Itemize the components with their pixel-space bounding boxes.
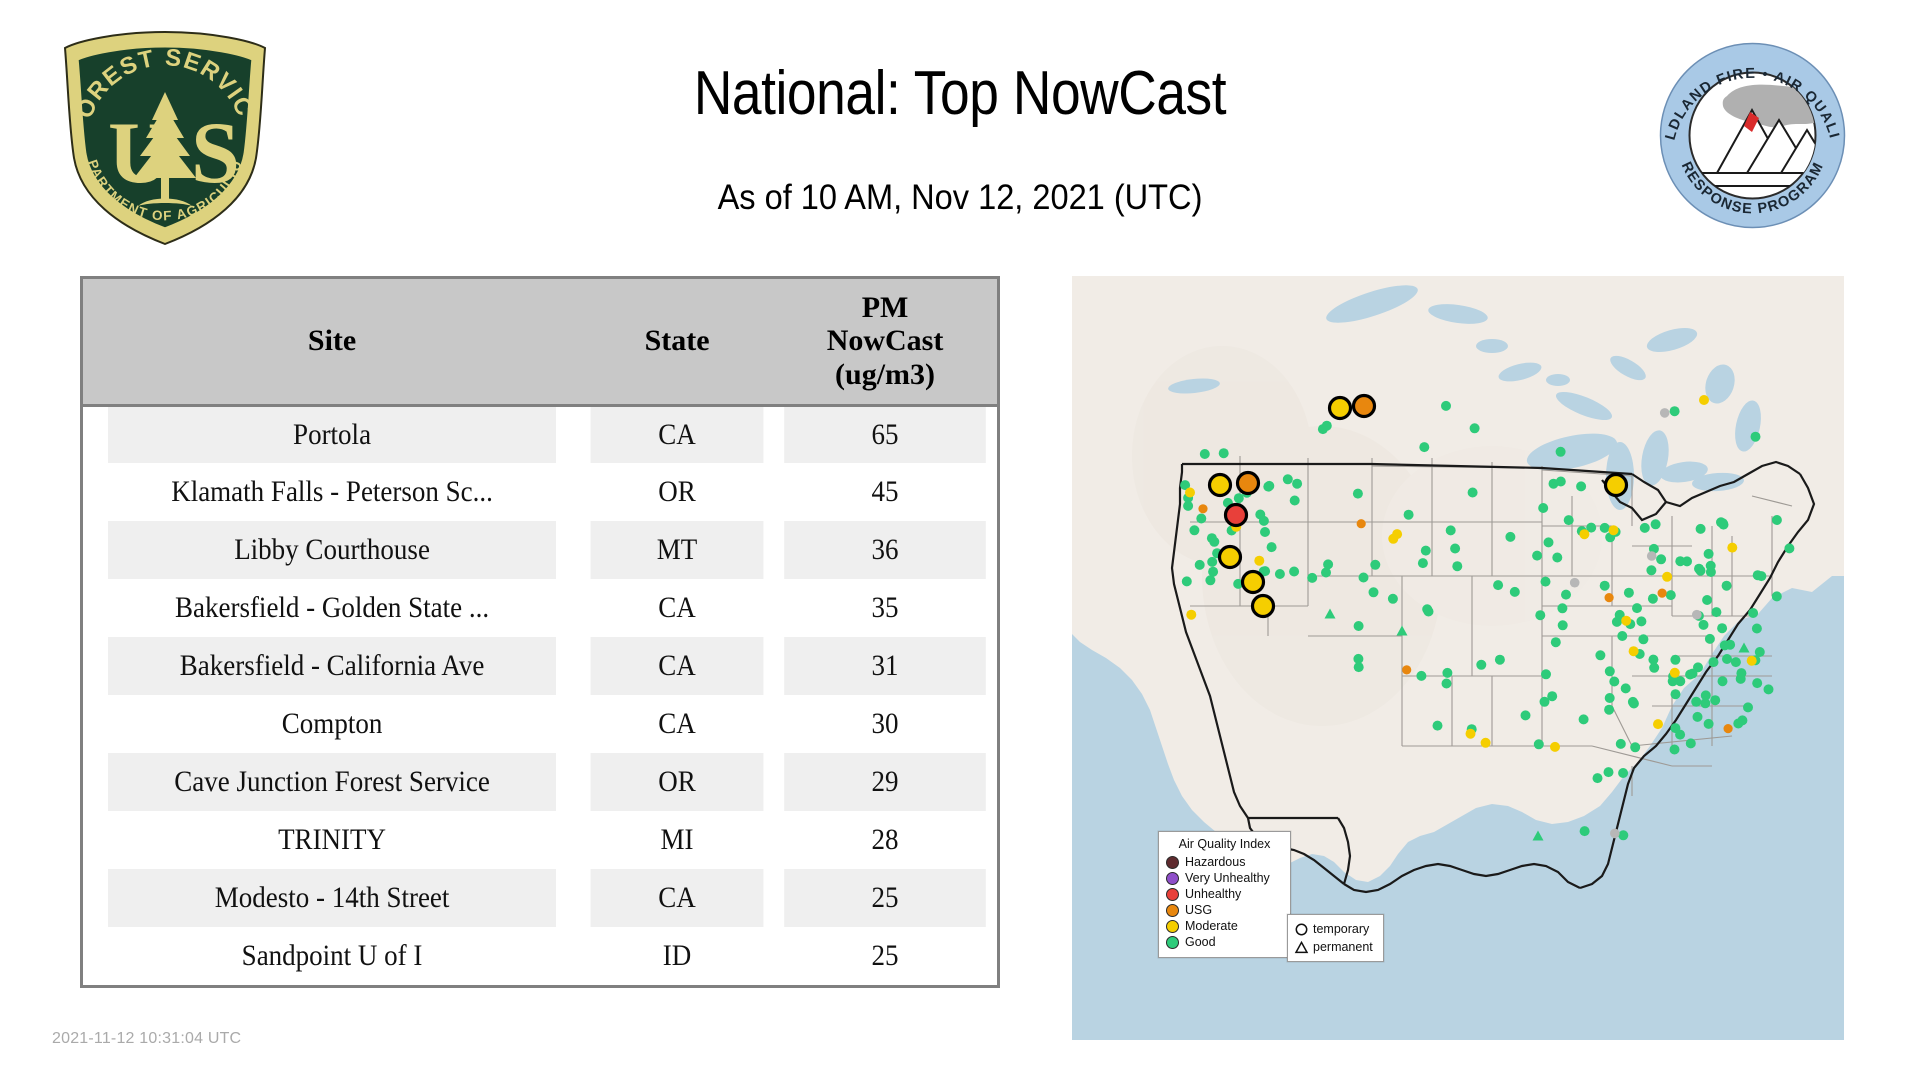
table-row: Libby CourthouseMT36 bbox=[83, 521, 997, 579]
table-row: TRINITYMI28 bbox=[83, 811, 997, 869]
monitor-dot[interactable] bbox=[1725, 640, 1735, 650]
legend-label: Unhealthy bbox=[1185, 888, 1241, 901]
circle-icon bbox=[1294, 922, 1309, 937]
monitor-dot[interactable] bbox=[1609, 677, 1619, 687]
monitor-dot[interactable] bbox=[1452, 561, 1462, 571]
monitor-dot[interactable] bbox=[1532, 551, 1542, 561]
monitor-dot[interactable] bbox=[1753, 570, 1763, 580]
monitor-dot[interactable] bbox=[1359, 573, 1369, 583]
legend-row-temporary: temporary bbox=[1294, 920, 1377, 938]
triangle-icon bbox=[1294, 940, 1309, 955]
monitor-dot[interactable] bbox=[1704, 549, 1714, 559]
table-row: Klamath Falls - Peterson Sc...OR45 bbox=[83, 463, 997, 521]
monitor-dot[interactable] bbox=[1736, 674, 1746, 684]
table-cell-pm: 45 bbox=[784, 463, 986, 521]
column-header-pm-line1: PM bbox=[777, 291, 993, 325]
monitor-dot[interactable] bbox=[1234, 493, 1244, 503]
monitor-dot[interactable] bbox=[1388, 534, 1398, 544]
monitor-dot[interactable] bbox=[1195, 560, 1205, 570]
highlighted-monitor-sandpoint-u-of-i[interactable] bbox=[1330, 398, 1351, 419]
table-cell-site: Klamath Falls - Peterson Sc... bbox=[108, 463, 556, 521]
monitor-dot[interactable] bbox=[1196, 514, 1206, 524]
monitor-dot[interactable] bbox=[1505, 532, 1515, 542]
legend-row-hazardous: Hazardous bbox=[1166, 854, 1283, 870]
monitor-dot[interactable] bbox=[1189, 525, 1199, 535]
highlighted-monitor-libby-courthouse[interactable] bbox=[1354, 396, 1375, 417]
legend-row-good: Good bbox=[1166, 934, 1283, 950]
table-cell-pm: 25 bbox=[784, 869, 986, 927]
monitor-dot[interactable] bbox=[1616, 739, 1626, 749]
table-cell-pm: 30 bbox=[784, 695, 986, 753]
monitor-dot[interactable] bbox=[1595, 650, 1605, 660]
monitor-dot[interactable] bbox=[1357, 519, 1366, 528]
monitor-dot[interactable] bbox=[1208, 567, 1218, 577]
monitor-dot[interactable] bbox=[1419, 442, 1429, 452]
column-header-state: State bbox=[581, 279, 773, 405]
table-row: ComptonCA30 bbox=[83, 695, 997, 753]
monitor-dot[interactable] bbox=[1207, 557, 1217, 567]
monitor-dot[interactable] bbox=[1748, 608, 1758, 618]
table-cell-site: Bakersfield - California Ave bbox=[108, 637, 556, 695]
monitor-dot[interactable] bbox=[1688, 669, 1698, 679]
table-cell-pm: 36 bbox=[784, 521, 986, 579]
table-row: Bakersfield - Golden State ...CA35 bbox=[83, 579, 997, 637]
monitor-dot[interactable] bbox=[1198, 504, 1207, 513]
monitor-dot[interactable] bbox=[1495, 655, 1505, 665]
monitor-dot[interactable] bbox=[1470, 423, 1480, 433]
monitor-type-legend: temporary permanent bbox=[1287, 914, 1384, 962]
aqi-legend-title: Air Quality Index bbox=[1166, 837, 1283, 851]
monitor-dot[interactable] bbox=[1538, 503, 1548, 513]
table-cell-pm: 25 bbox=[784, 927, 986, 985]
table-cell-state: CA bbox=[591, 695, 764, 753]
table-row: PortolaCA65 bbox=[83, 405, 997, 463]
legend-swatch-icon bbox=[1166, 920, 1179, 933]
monitor-dot[interactable] bbox=[1369, 587, 1379, 597]
monitor-dot[interactable] bbox=[1651, 519, 1661, 529]
monitor-dot[interactable] bbox=[1418, 558, 1428, 568]
monitor-dot[interactable] bbox=[1784, 543, 1794, 553]
highlighted-monitor-modesto-14th-street[interactable] bbox=[1220, 547, 1241, 568]
monitor-dot[interactable] bbox=[1564, 515, 1574, 525]
legend-row-unhealthy: Unhealthy bbox=[1166, 886, 1283, 902]
monitor-dot[interactable] bbox=[1534, 739, 1544, 749]
monitor-dot[interactable] bbox=[1544, 537, 1554, 547]
monitor-dot[interactable] bbox=[1653, 719, 1663, 729]
monitor-dot[interactable] bbox=[1254, 556, 1264, 566]
legend-swatch-icon bbox=[1166, 888, 1179, 901]
legend-label-permanent: permanent bbox=[1313, 941, 1373, 954]
column-header-pm-nowcast: PM NowCast (ug/m3) bbox=[773, 279, 997, 405]
monitor-dot[interactable] bbox=[1402, 665, 1411, 674]
monitor-dot[interactable] bbox=[1446, 525, 1456, 535]
table-cell-state: MT bbox=[591, 521, 764, 579]
monitor-dot[interactable] bbox=[1647, 551, 1657, 561]
table-row: Modesto - 14th StreetCA25 bbox=[83, 869, 997, 927]
top-nowcast-table: Site State PM NowCast (ug/m3) PortolaCA6… bbox=[83, 279, 997, 985]
monitor-dot[interactable] bbox=[1307, 573, 1317, 583]
monitor-dot[interactable] bbox=[1556, 447, 1566, 457]
monitor-dot[interactable] bbox=[1772, 591, 1782, 601]
column-header-pm-line3: (ug/m3) bbox=[777, 358, 993, 392]
table-cell-state: OR bbox=[591, 753, 764, 811]
monitor-dot[interactable] bbox=[1290, 496, 1300, 506]
monitor-dot[interactable] bbox=[1621, 683, 1631, 693]
monitor-dot[interactable] bbox=[1510, 587, 1520, 597]
monitor-dot[interactable] bbox=[1747, 656, 1757, 666]
monitor-dot[interactable] bbox=[1260, 527, 1270, 537]
monitor-dot[interactable] bbox=[1670, 668, 1680, 678]
table-cell-site: Libby Courthouse bbox=[108, 521, 556, 579]
monitor-dot[interactable] bbox=[1185, 488, 1195, 498]
monitor-dot[interactable] bbox=[1646, 565, 1656, 575]
monitor-dot[interactable] bbox=[1605, 693, 1615, 703]
monitor-dot[interactable] bbox=[1535, 610, 1545, 620]
us-forest-service-logo: FOREST SERVICE U S DEPARTMENT OF AGRICUL… bbox=[60, 30, 270, 245]
monitor-dot[interactable] bbox=[1289, 567, 1299, 577]
table-cell-site: Sandpoint U of I bbox=[108, 927, 556, 985]
monitor-dot[interactable] bbox=[1724, 724, 1733, 733]
monitor-dot[interactable] bbox=[1630, 742, 1640, 752]
monitor-dot[interactable] bbox=[1618, 768, 1628, 778]
monitor-dot[interactable] bbox=[1605, 666, 1615, 676]
table-cell-site: Compton bbox=[108, 695, 556, 753]
monitor-dot[interactable] bbox=[1699, 620, 1709, 630]
monitor-dot[interactable] bbox=[1593, 773, 1603, 783]
monitor-dot[interactable] bbox=[1662, 572, 1672, 582]
monitor-dot[interactable] bbox=[1660, 408, 1670, 418]
aqi-legend: Air Quality Index HazardousVery Unhealth… bbox=[1158, 831, 1291, 958]
monitor-dot[interactable] bbox=[1648, 655, 1658, 665]
monitor-dot[interactable] bbox=[1433, 721, 1443, 731]
monitor-dot[interactable] bbox=[1722, 581, 1732, 591]
monitor-dot[interactable] bbox=[1219, 448, 1229, 458]
legend-swatch-icon bbox=[1166, 856, 1179, 869]
table-cell-site: Modesto - 14th Street bbox=[108, 869, 556, 927]
table-cell-state: ID bbox=[591, 927, 764, 985]
monitor-dot[interactable] bbox=[1552, 553, 1562, 563]
monitor-dot[interactable] bbox=[1629, 646, 1639, 656]
monitor-dot[interactable] bbox=[1481, 738, 1491, 748]
legend-label-temporary: temporary bbox=[1313, 923, 1369, 936]
monitor-dot[interactable] bbox=[1600, 581, 1610, 591]
monitor-dot[interactable] bbox=[1704, 719, 1714, 729]
monitor-dot[interactable] bbox=[1186, 610, 1196, 620]
generated-timestamp: 2021-11-12 10:31:04 UTC bbox=[52, 1030, 241, 1048]
highlighted-monitor-trinity[interactable] bbox=[1606, 475, 1627, 496]
column-header-state-line1: State bbox=[585, 324, 769, 358]
legend-swatch-icon bbox=[1166, 936, 1179, 949]
monitor-dot[interactable] bbox=[1670, 723, 1680, 733]
monitor-dot[interactable] bbox=[1468, 488, 1478, 498]
monitor-dot[interactable] bbox=[1541, 577, 1551, 587]
monitor-dot[interactable] bbox=[1493, 580, 1503, 590]
table-cell-state: MI bbox=[591, 811, 764, 869]
monitor-dot[interactable] bbox=[1200, 449, 1210, 459]
monitor-dot[interactable] bbox=[1675, 556, 1685, 566]
monitor-dot[interactable] bbox=[1640, 523, 1650, 533]
monitor-dot[interactable] bbox=[1638, 634, 1648, 644]
monitor-dot[interactable] bbox=[1709, 657, 1719, 667]
monitor-dot[interactable] bbox=[1693, 712, 1703, 722]
monitor-dot[interactable] bbox=[1182, 576, 1192, 586]
monitor-dot[interactable] bbox=[1656, 554, 1666, 564]
monitor-dot[interactable] bbox=[1624, 588, 1634, 598]
table-cell-pm: 65 bbox=[784, 405, 986, 463]
top-nowcast-table-container: Site State PM NowCast (ug/m3) PortolaCA6… bbox=[80, 276, 1000, 988]
monitor-dot[interactable] bbox=[1632, 603, 1642, 613]
legend-swatch-icon bbox=[1166, 872, 1179, 885]
monitor-dot[interactable] bbox=[1579, 529, 1589, 539]
legend-row-permanent: permanent bbox=[1294, 938, 1377, 956]
monitor-dot[interactable] bbox=[1209, 537, 1219, 547]
monitor-dot[interactable] bbox=[1702, 595, 1712, 605]
legend-label: Good bbox=[1185, 936, 1216, 949]
monitor-dot[interactable] bbox=[1205, 575, 1215, 585]
monitor-dot[interactable] bbox=[1354, 621, 1364, 631]
monitor-dot[interactable] bbox=[1283, 474, 1293, 484]
monitor-dot[interactable] bbox=[1421, 546, 1431, 556]
table-row: Sandpoint U of IID25 bbox=[83, 927, 997, 985]
table-cell-state: CA bbox=[591, 869, 764, 927]
monitor-dot[interactable] bbox=[1666, 590, 1676, 600]
monitor-dot[interactable] bbox=[1416, 671, 1426, 681]
monitor-dot[interactable] bbox=[1717, 623, 1727, 633]
monitor-dot[interactable] bbox=[1670, 745, 1680, 755]
table-cell-state: OR bbox=[591, 463, 764, 521]
monitor-dot[interactable] bbox=[1670, 655, 1680, 665]
monitor-dot[interactable] bbox=[1547, 691, 1557, 701]
monitor-dot[interactable] bbox=[1550, 742, 1560, 752]
monitor-dot[interactable] bbox=[1752, 624, 1762, 634]
table-cell-site: Bakersfield - Golden State ... bbox=[108, 579, 556, 637]
monitor-dot[interactable] bbox=[1263, 482, 1273, 492]
monitor-dot[interactable] bbox=[1605, 593, 1614, 602]
monitor-dot[interactable] bbox=[1706, 567, 1716, 577]
monitor-dot[interactable] bbox=[1442, 668, 1452, 678]
monitor-dot[interactable] bbox=[1731, 657, 1741, 667]
monitor-dot[interactable] bbox=[1353, 654, 1363, 664]
monitor-dot[interactable] bbox=[1628, 697, 1638, 707]
monitor-dot[interactable] bbox=[1442, 679, 1452, 689]
table-cell-state: CA bbox=[591, 579, 764, 637]
slide-root: FOREST SERVICE U S DEPARTMENT OF AGRICUL… bbox=[0, 0, 1920, 1080]
highlighted-monitor-bakersfield-california-ave[interactable] bbox=[1243, 572, 1264, 593]
column-header-pm-line2: NowCast bbox=[777, 324, 993, 358]
monitor-dot[interactable] bbox=[1323, 559, 1333, 569]
legend-row-moderate: Moderate bbox=[1166, 918, 1283, 934]
monitor-dot[interactable] bbox=[1668, 676, 1678, 686]
wfaqrp-logo: WILDLAND FIRE • AIR QUALITY RESPONSE PRO… bbox=[1655, 38, 1850, 233]
monitor-dot[interactable] bbox=[1259, 516, 1269, 526]
table-header: Site State PM NowCast (ug/m3) bbox=[83, 279, 997, 405]
monitor-dot[interactable] bbox=[1752, 678, 1762, 688]
monitor-dot[interactable] bbox=[1648, 594, 1658, 604]
highlighted-monitor-portola[interactable] bbox=[1226, 505, 1247, 526]
monitor-dot[interactable] bbox=[1466, 729, 1476, 739]
monitor-dot[interactable] bbox=[1743, 702, 1753, 712]
highlighted-monitor-cave-junction-forest-service[interactable] bbox=[1210, 475, 1231, 496]
legend-label: Very Unhealthy bbox=[1185, 872, 1270, 885]
monitor-dot[interactable] bbox=[1658, 589, 1667, 598]
monitor-dot[interactable] bbox=[1699, 395, 1709, 405]
monitor-dot[interactable] bbox=[1541, 669, 1551, 679]
table-cell-pm: 29 bbox=[784, 753, 986, 811]
legend-label: USG bbox=[1185, 904, 1212, 917]
monitor-dot[interactable] bbox=[1580, 826, 1590, 836]
aqi-monitor-map[interactable]: Air Quality Index HazardousVery Unhealth… bbox=[1072, 276, 1844, 1040]
monitor-dot[interactable] bbox=[1267, 542, 1277, 552]
monitor-dot[interactable] bbox=[1370, 560, 1380, 570]
legend-label: Hazardous bbox=[1185, 856, 1245, 869]
monitor-dot[interactable] bbox=[1610, 829, 1620, 839]
monitor-dot[interactable] bbox=[1705, 634, 1715, 644]
monitor-dot[interactable] bbox=[1450, 544, 1460, 554]
monitor-dot[interactable] bbox=[1579, 714, 1589, 724]
page-subtitle: As of 10 AM, Nov 12, 2021 (UTC) bbox=[346, 178, 1574, 218]
legend-row-usg: USG bbox=[1166, 902, 1283, 918]
monitor-dot[interactable] bbox=[1694, 564, 1704, 574]
column-header-site-line1: Site bbox=[87, 324, 577, 358]
monitor-dot[interactable] bbox=[1733, 719, 1743, 729]
monitor-dot[interactable] bbox=[1549, 479, 1559, 489]
monitor-dot[interactable] bbox=[1727, 543, 1737, 553]
monitor-dot[interactable] bbox=[1292, 479, 1302, 489]
monitor-dot[interactable] bbox=[1275, 569, 1285, 579]
monitor-dot[interactable] bbox=[1570, 578, 1580, 588]
monitor-dot[interactable] bbox=[1441, 401, 1451, 411]
monitor-dot[interactable] bbox=[1551, 637, 1561, 647]
monitor-dot[interactable] bbox=[1422, 604, 1432, 614]
table-cell-site: Cave Junction Forest Service bbox=[108, 753, 556, 811]
monitor-dot[interactable] bbox=[1600, 523, 1610, 533]
monitor-dot[interactable] bbox=[1711, 607, 1721, 617]
table-row: Cave Junction Forest ServiceOR29 bbox=[83, 753, 997, 811]
legend-label: Moderate bbox=[1185, 920, 1238, 933]
table-cell-state: CA bbox=[591, 405, 764, 463]
table-row: Bakersfield - California AveCA31 bbox=[83, 637, 997, 695]
monitor-dot[interactable] bbox=[1604, 705, 1614, 715]
monitor-dot[interactable] bbox=[1710, 695, 1720, 705]
monitor-dot[interactable] bbox=[1696, 524, 1706, 534]
monitor-dot[interactable] bbox=[1609, 525, 1619, 535]
table-header-row: Site State PM NowCast (ug/m3) bbox=[83, 279, 997, 405]
monitor-dot[interactable] bbox=[1561, 590, 1571, 600]
monitor-dot[interactable] bbox=[1700, 698, 1710, 708]
monitor-dot[interactable] bbox=[1557, 603, 1567, 613]
monitor-dot[interactable] bbox=[1476, 660, 1486, 670]
monitor-dot[interactable] bbox=[1718, 676, 1728, 686]
table-cell-site: Portola bbox=[108, 405, 556, 463]
monitor-dot[interactable] bbox=[1618, 830, 1628, 840]
monitor-dot[interactable] bbox=[1718, 518, 1728, 528]
monitor-dot[interactable] bbox=[1353, 489, 1363, 499]
table-cell-pm: 31 bbox=[784, 637, 986, 695]
monitor-dot[interactable] bbox=[1521, 710, 1531, 720]
monitor-dot[interactable] bbox=[1388, 594, 1398, 604]
table-cell-pm: 28 bbox=[784, 811, 986, 869]
table-cell-pm: 35 bbox=[784, 579, 986, 637]
monitor-dot[interactable] bbox=[1722, 654, 1732, 664]
highlighted-monitor-compton[interactable] bbox=[1253, 596, 1274, 617]
monitor-dot[interactable] bbox=[1691, 697, 1701, 707]
monitor-dot[interactable] bbox=[1318, 424, 1328, 434]
monitor-dot[interactable] bbox=[1636, 616, 1646, 626]
monitor-dot[interactable] bbox=[1576, 481, 1586, 491]
monitor-dot[interactable] bbox=[1670, 406, 1680, 416]
table-cell-site: TRINITY bbox=[108, 811, 556, 869]
table-body: PortolaCA65Klamath Falls - Peterson Sc..… bbox=[83, 405, 997, 985]
page-title: National: Top NowCast bbox=[392, 58, 1527, 129]
monitor-dot[interactable] bbox=[1404, 510, 1414, 520]
monitor-dot[interactable] bbox=[1604, 767, 1614, 777]
legend-swatch-icon bbox=[1166, 904, 1179, 917]
monitor-dot[interactable] bbox=[1617, 631, 1627, 641]
monitor-dot[interactable] bbox=[1621, 616, 1631, 626]
monitor-dot[interactable] bbox=[1686, 738, 1696, 748]
monitor-dot[interactable] bbox=[1772, 515, 1782, 525]
monitor-dot[interactable] bbox=[1764, 684, 1774, 694]
monitor-dot[interactable] bbox=[1558, 620, 1568, 630]
monitor-dot[interactable] bbox=[1671, 689, 1681, 699]
table-cell-state: CA bbox=[591, 637, 764, 695]
monitor-dot[interactable] bbox=[1692, 610, 1702, 620]
monitor-dot[interactable] bbox=[1751, 432, 1761, 442]
legend-row-very-unhealthy: Very Unhealthy bbox=[1166, 870, 1283, 886]
highlighted-monitor-klamath-falls-peterson-sc[interactable] bbox=[1238, 473, 1259, 494]
column-header-site: Site bbox=[83, 279, 581, 405]
